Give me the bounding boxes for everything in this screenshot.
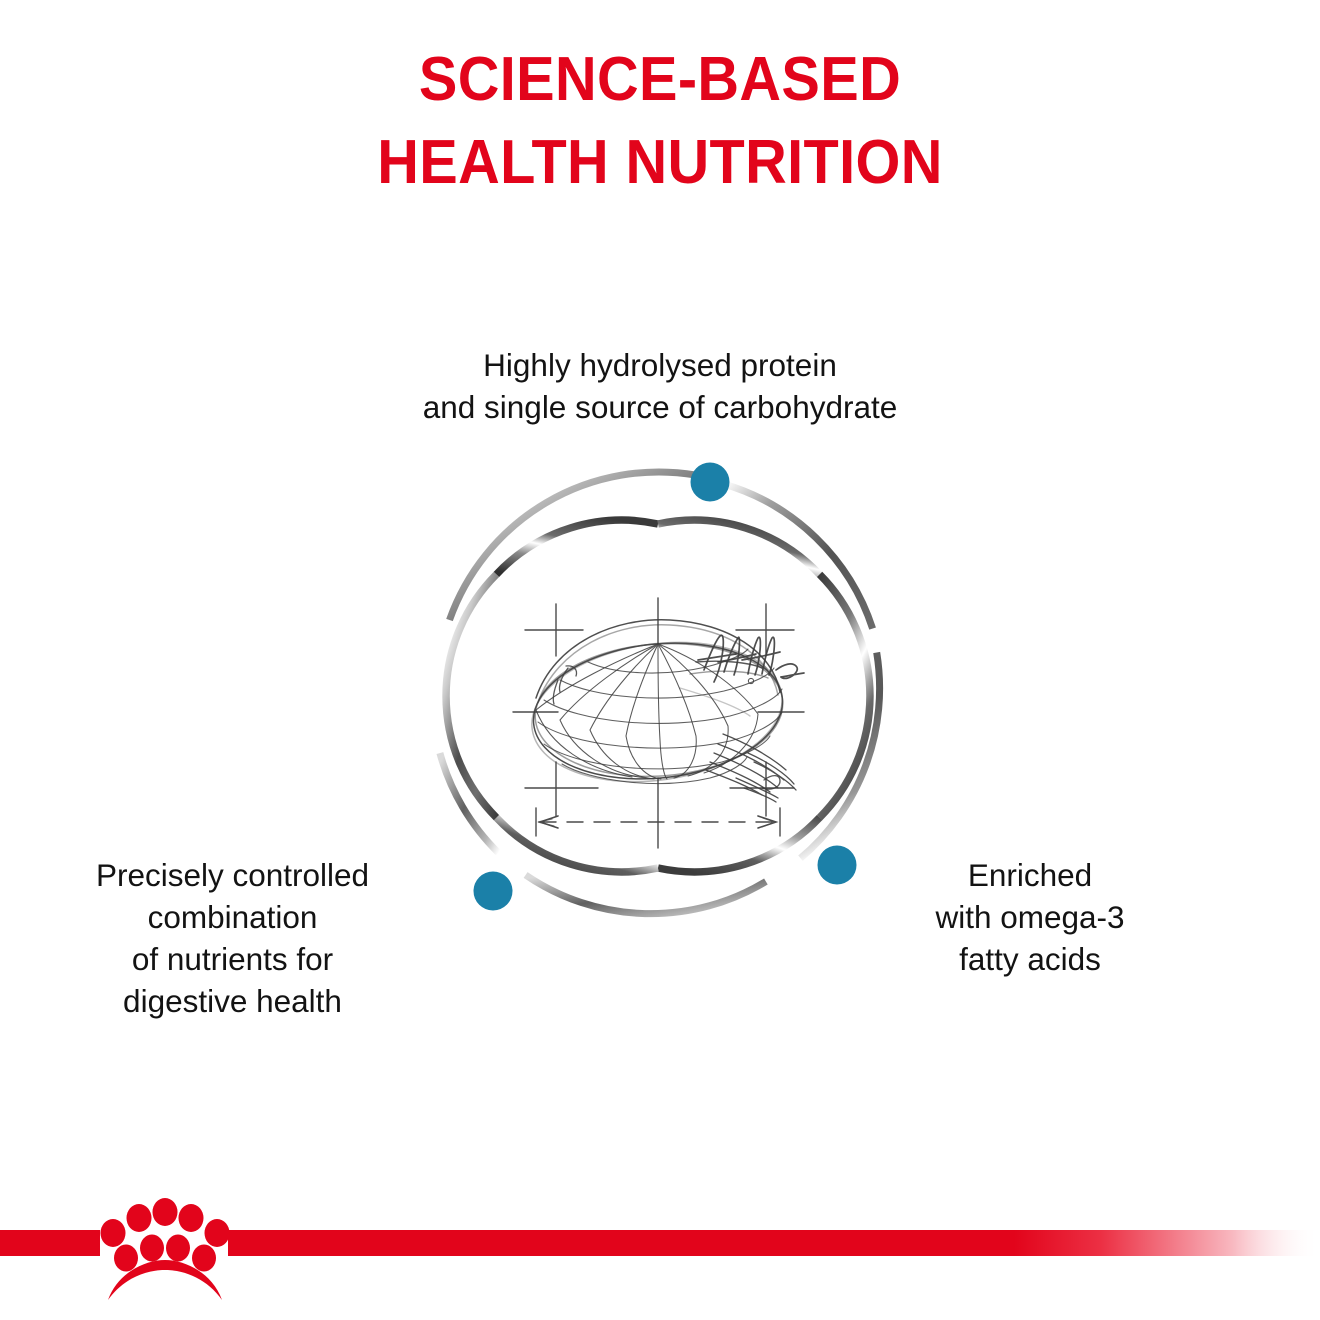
handwritten-annotation — [698, 635, 804, 682]
kibble-shading — [706, 734, 796, 802]
page-title: SCIENCE-BASED HEALTH NUTRITION — [46, 38, 1274, 204]
benefit-label-right: Enriched with omega-3 fatty acids — [880, 855, 1180, 981]
marker-dot-left — [474, 872, 513, 911]
kibble-sketch — [513, 598, 804, 848]
footer-brand-bar — [0, 1188, 1320, 1320]
footer-bar-right — [228, 1230, 1320, 1256]
benefit-label-top: Highly hydrolysed protein and single sou… — [260, 345, 1060, 429]
marker-dot-right — [818, 846, 857, 885]
outer-ring — [440, 472, 880, 914]
kibble-diagram — [418, 448, 898, 948]
royal-canin-crown-icon — [101, 1198, 230, 1300]
marker-dot-top — [691, 463, 730, 502]
benefit-label-left: Precisely controlled combination of nutr… — [25, 855, 440, 1023]
footer-bar-left — [0, 1230, 100, 1256]
